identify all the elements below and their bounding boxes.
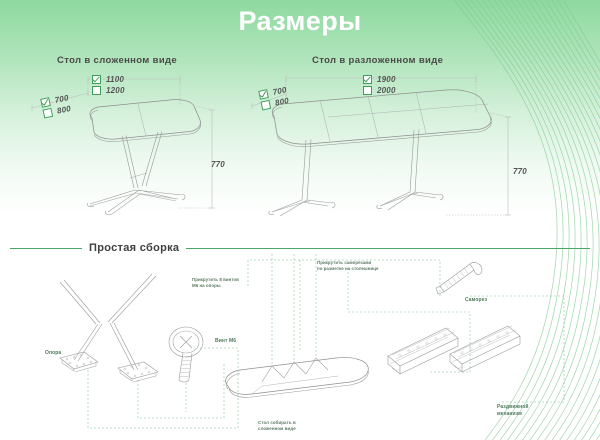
checkbox-checked-icon[interactable] xyxy=(92,75,101,84)
checkbox-checked-icon[interactable] xyxy=(363,75,372,84)
option-value: 1900 xyxy=(377,75,396,84)
checkbox-checked-icon[interactable] xyxy=(40,97,51,108)
part-label-bolt: Винт М6 xyxy=(215,338,236,345)
option-row[interactable]: 1900 xyxy=(363,74,396,85)
checkbox-unchecked-icon[interactable] xyxy=(260,100,271,111)
divider-right xyxy=(186,248,590,249)
part-label-screw: Саморез xyxy=(465,297,487,304)
option-row[interactable]: 2000 xyxy=(363,85,396,96)
option-row[interactable]: 1100 xyxy=(92,74,125,85)
unfolded-width-options[interactable]: 1900 2000 xyxy=(363,74,396,96)
option-value: 2000 xyxy=(377,86,396,95)
note-screws: Прикрутить 8 винтов М6 на опоры xyxy=(192,277,239,289)
assembly-section-header: Простая сборка xyxy=(0,240,600,256)
folded-width-options[interactable]: 1100 1200 xyxy=(92,74,125,96)
option-value: 800 xyxy=(56,104,72,116)
checkbox-checked-icon[interactable] xyxy=(258,89,269,100)
option-value: 1100 xyxy=(106,75,124,84)
checkbox-unchecked-icon[interactable] xyxy=(92,86,101,95)
divider-left xyxy=(10,248,82,249)
note-fold-assembly: Стол собирать в сложенном виде xyxy=(258,420,296,431)
unfolded-height-label: 770 xyxy=(513,167,527,176)
option-value: 800 xyxy=(274,96,290,108)
poster-page: Размеры Стол в сложенном виде xyxy=(0,0,600,440)
section-heading-unfolded: Стол в разложенном виде xyxy=(312,55,443,66)
page-title: Размеры xyxy=(0,6,600,37)
option-value: 1200 xyxy=(106,86,125,95)
folded-height-label: 770 xyxy=(211,160,225,169)
assembly-heading: Простая сборка xyxy=(82,242,186,254)
unfolded-table-drawing xyxy=(250,60,560,220)
checkbox-unchecked-icon[interactable] xyxy=(363,86,372,95)
part-label-support: Опора xyxy=(45,350,61,357)
note-selftapping: Прикрутить саморезами по разметке на сто… xyxy=(317,260,378,272)
section-heading-folded: Стол в сложенном виде xyxy=(57,55,177,66)
option-row[interactable]: 1200 xyxy=(92,85,125,96)
checkbox-unchecked-icon[interactable] xyxy=(42,108,53,119)
folded-table-drawing xyxy=(30,60,250,220)
part-label-mechanism: Раздвижной механизм xyxy=(497,404,529,417)
